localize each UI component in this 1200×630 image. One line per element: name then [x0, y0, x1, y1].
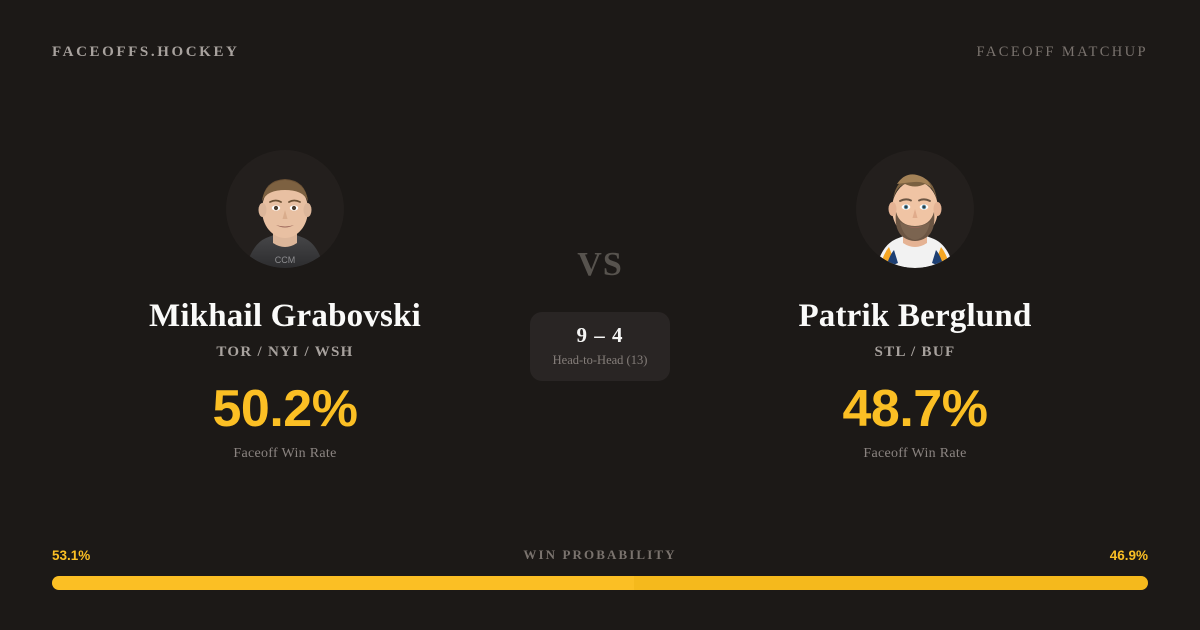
head-to-head-score: 9 – 4 [577, 323, 624, 348]
player-faceoff-pct-left: 50.2% [213, 383, 358, 435]
win-probability-labels: 53.1% WIN PROBABILITY 46.9% [52, 547, 1148, 563]
player-faceoff-pct-right: 48.7% [843, 383, 988, 435]
player-headshot-grabovski: CCM [226, 150, 344, 268]
player-name-left: Mikhail Grabovski [149, 298, 421, 334]
win-probability-title: WIN PROBABILITY [523, 547, 676, 563]
win-probability-fill-right [634, 576, 1148, 590]
player-headshot-berglund [856, 150, 974, 268]
svg-text:CCM: CCM [275, 255, 296, 265]
player-teams-right: STL / BUF [875, 344, 956, 361]
vs-label: VS [577, 246, 622, 284]
header-tagline: FACEOFF MATCHUP [976, 44, 1148, 61]
win-probability-right-value: 46.9% [1110, 548, 1148, 563]
head-to-head-label: Head-to-Head (13) [553, 353, 648, 368]
player-teams-left: TOR / NYI / WSH [216, 344, 353, 361]
header: FACEOFFS.HOCKEY FACEOFF MATCHUP [0, 0, 1200, 104]
center-column: VS 9 – 4 Head-to-Head (13) [500, 150, 700, 381]
win-probability-section: 53.1% WIN PROBABILITY 46.9% [52, 547, 1148, 590]
head-to-head-badge: 9 – 4 Head-to-Head (13) [530, 312, 670, 381]
win-probability-fill-left [52, 576, 634, 590]
player-faceoff-label-left: Faceoff Win Rate [233, 446, 336, 462]
player-card-left[interactable]: CCM Mikhail Grabovski TOR / NYI / WSH 50… [70, 150, 500, 462]
matchup-row: CCM Mikhail Grabovski TOR / NYI / WSH 50… [0, 150, 1200, 480]
player-faceoff-label-right: Faceoff Win Rate [863, 446, 966, 462]
brand-logo[interactable]: FACEOFFS.HOCKEY [52, 44, 239, 61]
win-probability-left-value: 53.1% [52, 548, 90, 563]
faceoff-matchup-card: FACEOFFS.HOCKEY FACEOFF MATCHUP [0, 0, 1200, 630]
player-card-right[interactable]: Patrik Berglund STL / BUF 48.7% Faceoff … [700, 150, 1130, 462]
win-probability-bar[interactable] [52, 576, 1148, 590]
player-name-right: Patrik Berglund [798, 298, 1031, 334]
